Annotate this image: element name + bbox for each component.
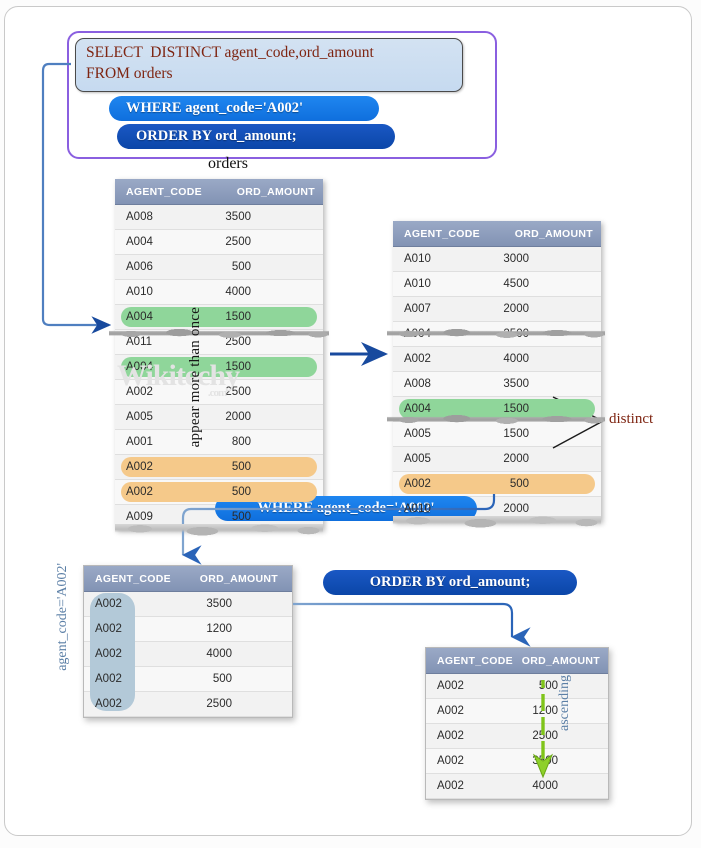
sql-select-box: SELECT DISTINCT agent_code,ord_amount FR… xyxy=(75,38,463,92)
annotation-appear-more-than-once: appear more than once xyxy=(187,307,204,447)
cell-ord-amount: 1500 xyxy=(503,428,601,440)
cell-agent-code: A010 xyxy=(115,286,153,298)
table-row: A0041500 xyxy=(115,355,323,380)
annotation-agent-code-filter: agent_code='A002' xyxy=(55,563,71,671)
table-header-row: AGENT_CODE ORD_AMOUNT xyxy=(393,221,601,247)
cell-ord-amount: 1500 xyxy=(503,403,601,415)
cell-agent-code: A002 xyxy=(84,698,122,710)
table-row: A0083500 xyxy=(115,205,323,230)
table-row: A002500 xyxy=(393,472,601,497)
cell-agent-code: A002 xyxy=(84,648,122,660)
cell-ord-amount: 500 xyxy=(232,261,323,273)
cell-agent-code: A002 xyxy=(115,461,153,473)
table-row: A0072000 xyxy=(393,297,601,322)
cell-ord-amount: 2500 xyxy=(206,698,292,710)
diagram-canvas: SELECT DISTINCT agent_code,ord_amount FR… xyxy=(4,6,692,836)
cell-ord-amount: 1500 xyxy=(225,361,323,373)
sql-where-pill: WHERE agent_code='A002' xyxy=(109,96,379,121)
table-row: A0023500 xyxy=(426,749,608,774)
cell-ord-amount: 4500 xyxy=(503,278,601,290)
table-row: A0052000 xyxy=(115,405,323,430)
cell-agent-code: A004 xyxy=(115,236,153,248)
cell-agent-code: A002 xyxy=(393,353,431,365)
cell-ord-amount: 2000 xyxy=(225,411,323,423)
cell-agent-code: A002 xyxy=(426,705,464,717)
cell-ord-amount: 3500 xyxy=(206,598,292,610)
cell-agent-code: A002 xyxy=(426,755,464,767)
cell-ord-amount: 3500 xyxy=(532,755,608,767)
table-row: A002500 xyxy=(115,480,323,505)
column-header-agent-code: AGENT_CODE xyxy=(393,228,480,240)
cell-ord-amount: 2500 xyxy=(532,730,608,742)
cell-ord-amount: 4000 xyxy=(225,286,323,298)
cell-ord-amount: 500 xyxy=(510,478,601,490)
column-header-ord-amount: ORD_AMOUNT xyxy=(237,186,323,198)
cell-agent-code: A008 xyxy=(115,211,153,223)
cell-ord-amount: 3000 xyxy=(503,253,601,265)
cell-agent-code: A004 xyxy=(115,311,153,323)
distinct-result-table-body: A0103000A0104500A0072000A0042500A0024000… xyxy=(393,247,601,522)
cell-ord-amount: 2000 xyxy=(503,453,601,465)
cell-ord-amount: 500 xyxy=(232,461,323,473)
table-row: A001800 xyxy=(115,430,323,455)
table-row: A0041500 xyxy=(393,397,601,422)
table-row: A002500 xyxy=(426,674,608,699)
table1-caption: orders xyxy=(183,155,273,173)
connector-table3-to-table4 xyxy=(293,604,512,637)
orders-table-body: A0083500A0042500A006500A0104000A0041500A… xyxy=(115,205,323,530)
column-header-agent-code: AGENT_CODE xyxy=(115,186,202,198)
torn-edge-bottom xyxy=(115,524,323,536)
order-by-result-table-body: A002500A0021200A0022500A0023500A0024000 xyxy=(426,674,608,799)
cell-agent-code: A011 xyxy=(115,336,152,348)
cell-agent-code: A005 xyxy=(115,411,153,423)
cell-ord-amount: 1200 xyxy=(206,623,292,635)
cell-ord-amount: 2500 xyxy=(225,236,323,248)
cell-agent-code: A005 xyxy=(393,428,431,440)
cell-agent-code: A002 xyxy=(426,680,464,692)
distinct-result-table: AGENT_CODE ORD_AMOUNT A0103000A0104500A0… xyxy=(393,221,601,522)
table-row: A0024000 xyxy=(426,774,608,799)
cell-ord-amount: 500 xyxy=(213,673,292,685)
table-row: A0042500 xyxy=(115,230,323,255)
table-row: A0104500 xyxy=(393,272,601,297)
table-row: A0104000 xyxy=(115,280,323,305)
cell-ord-amount: 1200 xyxy=(532,705,608,717)
order-by-result-table: AGENT_CODE ORD_AMOUNT A002500A0021200A00… xyxy=(425,647,609,800)
cell-agent-code: A005 xyxy=(393,453,431,465)
table-row: A0022500 xyxy=(115,380,323,405)
cell-agent-code: A008 xyxy=(393,378,431,390)
cell-ord-amount: 1500 xyxy=(225,311,323,323)
table-header-row: AGENT_CODE ORD_AMOUNT xyxy=(84,566,292,592)
torn-edge-bottom xyxy=(393,516,601,528)
table-row: A0083500 xyxy=(393,372,601,397)
cell-ord-amount: 4000 xyxy=(532,780,608,792)
cell-ord-amount: 500 xyxy=(232,511,323,523)
cell-ord-amount: 2000 xyxy=(503,303,601,315)
cell-ord-amount: 500 xyxy=(232,486,323,498)
cell-agent-code: A002 xyxy=(84,598,122,610)
cell-ord-amount: 2500 xyxy=(503,328,601,340)
cell-agent-code: A010 xyxy=(393,253,431,265)
cell-agent-code: A002 xyxy=(426,730,464,742)
cell-agent-code: A004 xyxy=(393,328,431,340)
table-row: A0052000 xyxy=(393,447,601,472)
table-header-row: AGENT_CODE ORD_AMOUNT xyxy=(426,648,608,674)
sql-select-line2: FROM orders xyxy=(86,64,462,85)
cell-ord-amount: 2500 xyxy=(225,386,323,398)
cell-ord-amount: 3500 xyxy=(225,211,323,223)
cell-agent-code: A002 xyxy=(84,673,122,685)
cell-agent-code: A002 xyxy=(115,386,153,398)
step-label-order-by: ORDER BY ord_amount; xyxy=(323,570,577,595)
cell-agent-code: A007 xyxy=(393,303,431,315)
cell-ord-amount: 3500 xyxy=(503,378,601,390)
table-row: A0024000 xyxy=(393,347,601,372)
cell-agent-code: A001 xyxy=(115,436,153,448)
table-row: A002500 xyxy=(115,455,323,480)
cell-ord-amount: 2000 xyxy=(503,503,601,515)
cell-ord-amount: 2500 xyxy=(225,336,323,348)
table-row: A006500 xyxy=(115,255,323,280)
orders-table: AGENT_CODE ORD_AMOUNT A0083500A0042500A0… xyxy=(115,179,323,530)
cell-agent-code: A002 xyxy=(393,478,431,490)
table-row: A0112500 xyxy=(115,330,323,355)
column-header-ord-amount: ORD_AMOUNT xyxy=(522,655,608,667)
table-header-row: AGENT_CODE ORD_AMOUNT xyxy=(115,179,323,205)
cell-ord-amount: 4000 xyxy=(206,648,292,660)
cell-agent-code: A006 xyxy=(115,261,153,273)
cell-ord-amount: 800 xyxy=(232,436,323,448)
cell-agent-code: A010 xyxy=(393,503,431,515)
cell-agent-code: A002 xyxy=(426,780,464,792)
column-header-ord-amount: ORD_AMOUNT xyxy=(200,573,292,585)
cell-agent-code: A002 xyxy=(84,623,122,635)
cell-ord-amount: 4000 xyxy=(503,353,601,365)
cell-agent-code: A009 xyxy=(115,511,153,523)
column-header-agent-code: AGENT_CODE xyxy=(426,655,513,667)
cell-agent-code: A010 xyxy=(393,278,431,290)
table-row: A0022500 xyxy=(426,724,608,749)
column-header-agent-code: AGENT_CODE xyxy=(84,573,171,585)
sql-order-pill: ORDER BY ord_amount; xyxy=(117,124,395,149)
cell-agent-code: A002 xyxy=(115,486,153,498)
cell-ord-amount: 500 xyxy=(539,680,608,692)
annotation-distinct: distinct xyxy=(609,411,653,428)
table-row: A0021200 xyxy=(426,699,608,724)
table-row: A0051500 xyxy=(393,422,601,447)
cell-agent-code: A004 xyxy=(115,361,153,373)
table-row: A0042500 xyxy=(393,322,601,347)
column-header-ord-amount: ORD_AMOUNT xyxy=(515,228,601,240)
table-row: A0041500 xyxy=(115,305,323,330)
table-row: A0103000 xyxy=(393,247,601,272)
cell-agent-code: A004 xyxy=(393,403,431,415)
sql-select-line1: SELECT DISTINCT agent_code,ord_amount xyxy=(86,43,462,64)
